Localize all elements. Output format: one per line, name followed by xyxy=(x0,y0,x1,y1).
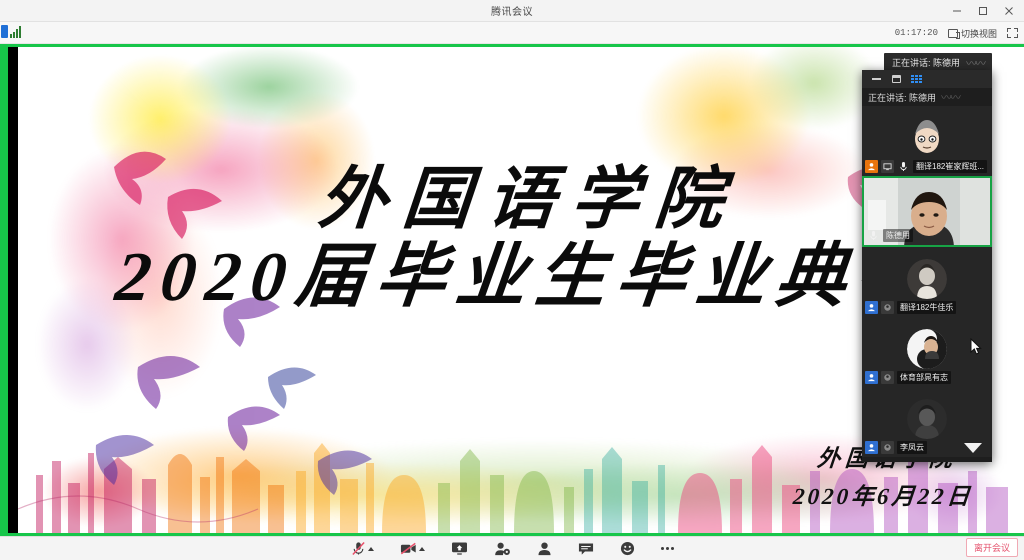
panel-speaking-label: 正在讲话: 陈德用 〰〰 xyxy=(862,88,992,106)
muted-badge-icon xyxy=(881,441,894,454)
participants-icon xyxy=(537,541,552,556)
panel-speaking-text: 正在讲话: 陈德用 xyxy=(868,91,936,104)
share-screen-button[interactable] xyxy=(451,541,468,556)
manage-members-icon xyxy=(494,541,511,556)
screen-share-badge-icon xyxy=(881,160,894,173)
photo-avatar-icon xyxy=(907,329,947,369)
participants-button[interactable] xyxy=(537,541,552,556)
participant-tiles: 翻译182崔家辉班... xyxy=(862,106,992,462)
speaking-tooltip-text: 正在讲话: 陈德用 xyxy=(892,56,960,69)
emoji-reaction-button[interactable] xyxy=(620,541,635,556)
switch-view-icon xyxy=(948,29,958,38)
meeting-toolbar: 离开会议 xyxy=(0,536,1024,560)
user-badge-icon xyxy=(865,441,878,454)
leave-meeting-button[interactable]: 离开会议 xyxy=(966,538,1018,557)
share-border-left xyxy=(0,44,8,536)
participant-tile[interactable]: 陈德用 xyxy=(862,176,992,247)
participant-name: 翻译182崔家辉班... xyxy=(913,160,987,173)
camera-options-caret[interactable] xyxy=(419,547,425,551)
muted-badge-icon xyxy=(881,371,894,384)
video-panel-minimize-button[interactable] xyxy=(871,74,882,85)
microphone-button[interactable] xyxy=(351,541,374,556)
microphone-muted-icon xyxy=(897,160,910,173)
window-titlebar: 腾讯会议 xyxy=(0,0,1024,22)
microphone-active-icon xyxy=(867,229,880,242)
window-close-button[interactable] xyxy=(996,0,1022,22)
manage-members-button[interactable] xyxy=(494,541,511,556)
participant-tile[interactable]: 翻译182牛佳乐 xyxy=(862,247,992,317)
share-screen-icon xyxy=(451,541,468,556)
participant-tag: 翻译182崔家辉班... xyxy=(865,160,987,173)
camera-button[interactable] xyxy=(400,541,425,556)
participant-name: 李凤云 xyxy=(897,441,927,454)
participant-tag: 翻译182牛佳乐 xyxy=(865,301,956,314)
participant-tag: 李凤云 xyxy=(865,441,927,454)
meeting-timer: 01:17:20 xyxy=(895,28,938,38)
avatar xyxy=(907,399,947,439)
cartoon-avatar-icon xyxy=(907,118,947,158)
participant-name: 翻译182牛佳乐 xyxy=(897,301,956,314)
mouse-cursor xyxy=(970,338,982,356)
chat-icon xyxy=(578,542,594,556)
window-minimize-button[interactable] xyxy=(944,0,970,22)
signature-date: 2020年6月22日 xyxy=(788,477,973,511)
meeting-top-strip: 01:17:20 切换视图 xyxy=(0,22,1024,44)
microphone-muted-icon xyxy=(351,541,366,556)
top-right-controls: 01:17:20 切换视图 xyxy=(895,22,1018,44)
photo-avatar-icon xyxy=(907,259,947,299)
grid-view-icon[interactable] xyxy=(911,74,922,85)
camera-off-icon xyxy=(400,541,417,556)
network-badge-icon xyxy=(1,25,8,38)
video-panel-titlebar xyxy=(862,70,992,88)
participant-tile[interactable]: 翻译182崔家辉班... xyxy=(862,106,992,176)
more-options-button[interactable] xyxy=(661,547,674,550)
participant-tag: 体育部晁有志 xyxy=(865,371,951,384)
chat-button[interactable] xyxy=(578,542,594,556)
panel-audio-wave-icon: 〰〰 xyxy=(941,89,959,105)
window-controls xyxy=(944,0,1022,22)
window-title: 腾讯会议 xyxy=(491,3,533,18)
avatar xyxy=(907,259,947,299)
avatar xyxy=(907,329,947,369)
app-root: 腾讯会议 01:17:20 切换视图 xyxy=(0,0,1024,560)
user-badge-icon xyxy=(865,371,878,384)
video-panel-restore-button[interactable] xyxy=(891,74,902,85)
avatar xyxy=(907,118,947,158)
signal-strength-icon[interactable] xyxy=(10,26,21,38)
chevron-down-icon[interactable] xyxy=(964,443,982,453)
close-icon xyxy=(1004,6,1014,16)
switch-view-label: 切换视图 xyxy=(961,27,997,40)
photo-avatar-icon xyxy=(907,399,947,439)
muted-badge-icon xyxy=(881,301,894,314)
participant-name: 陈德用 xyxy=(883,229,913,242)
participant-name: 体育部晁有志 xyxy=(897,371,951,384)
user-badge-icon xyxy=(865,301,878,314)
switch-view-button[interactable]: 切换视图 xyxy=(948,27,997,40)
audio-wave-icon: 〰〰 xyxy=(966,55,984,71)
participant-tag: 陈德用 xyxy=(867,229,913,242)
microphone-options-caret[interactable] xyxy=(368,547,374,551)
participant-tile[interactable]: 李凤云 xyxy=(862,387,992,457)
window-maximize-button[interactable] xyxy=(970,0,996,22)
emoji-smile-icon xyxy=(620,541,635,556)
host-badge-icon xyxy=(865,160,878,173)
video-thumbnail-panel: 正在讲话: 陈德用 〰〰 xyxy=(862,70,992,462)
fullscreen-icon[interactable] xyxy=(1007,28,1018,38)
minimize-icon xyxy=(952,6,962,16)
maximize-icon xyxy=(978,6,988,16)
